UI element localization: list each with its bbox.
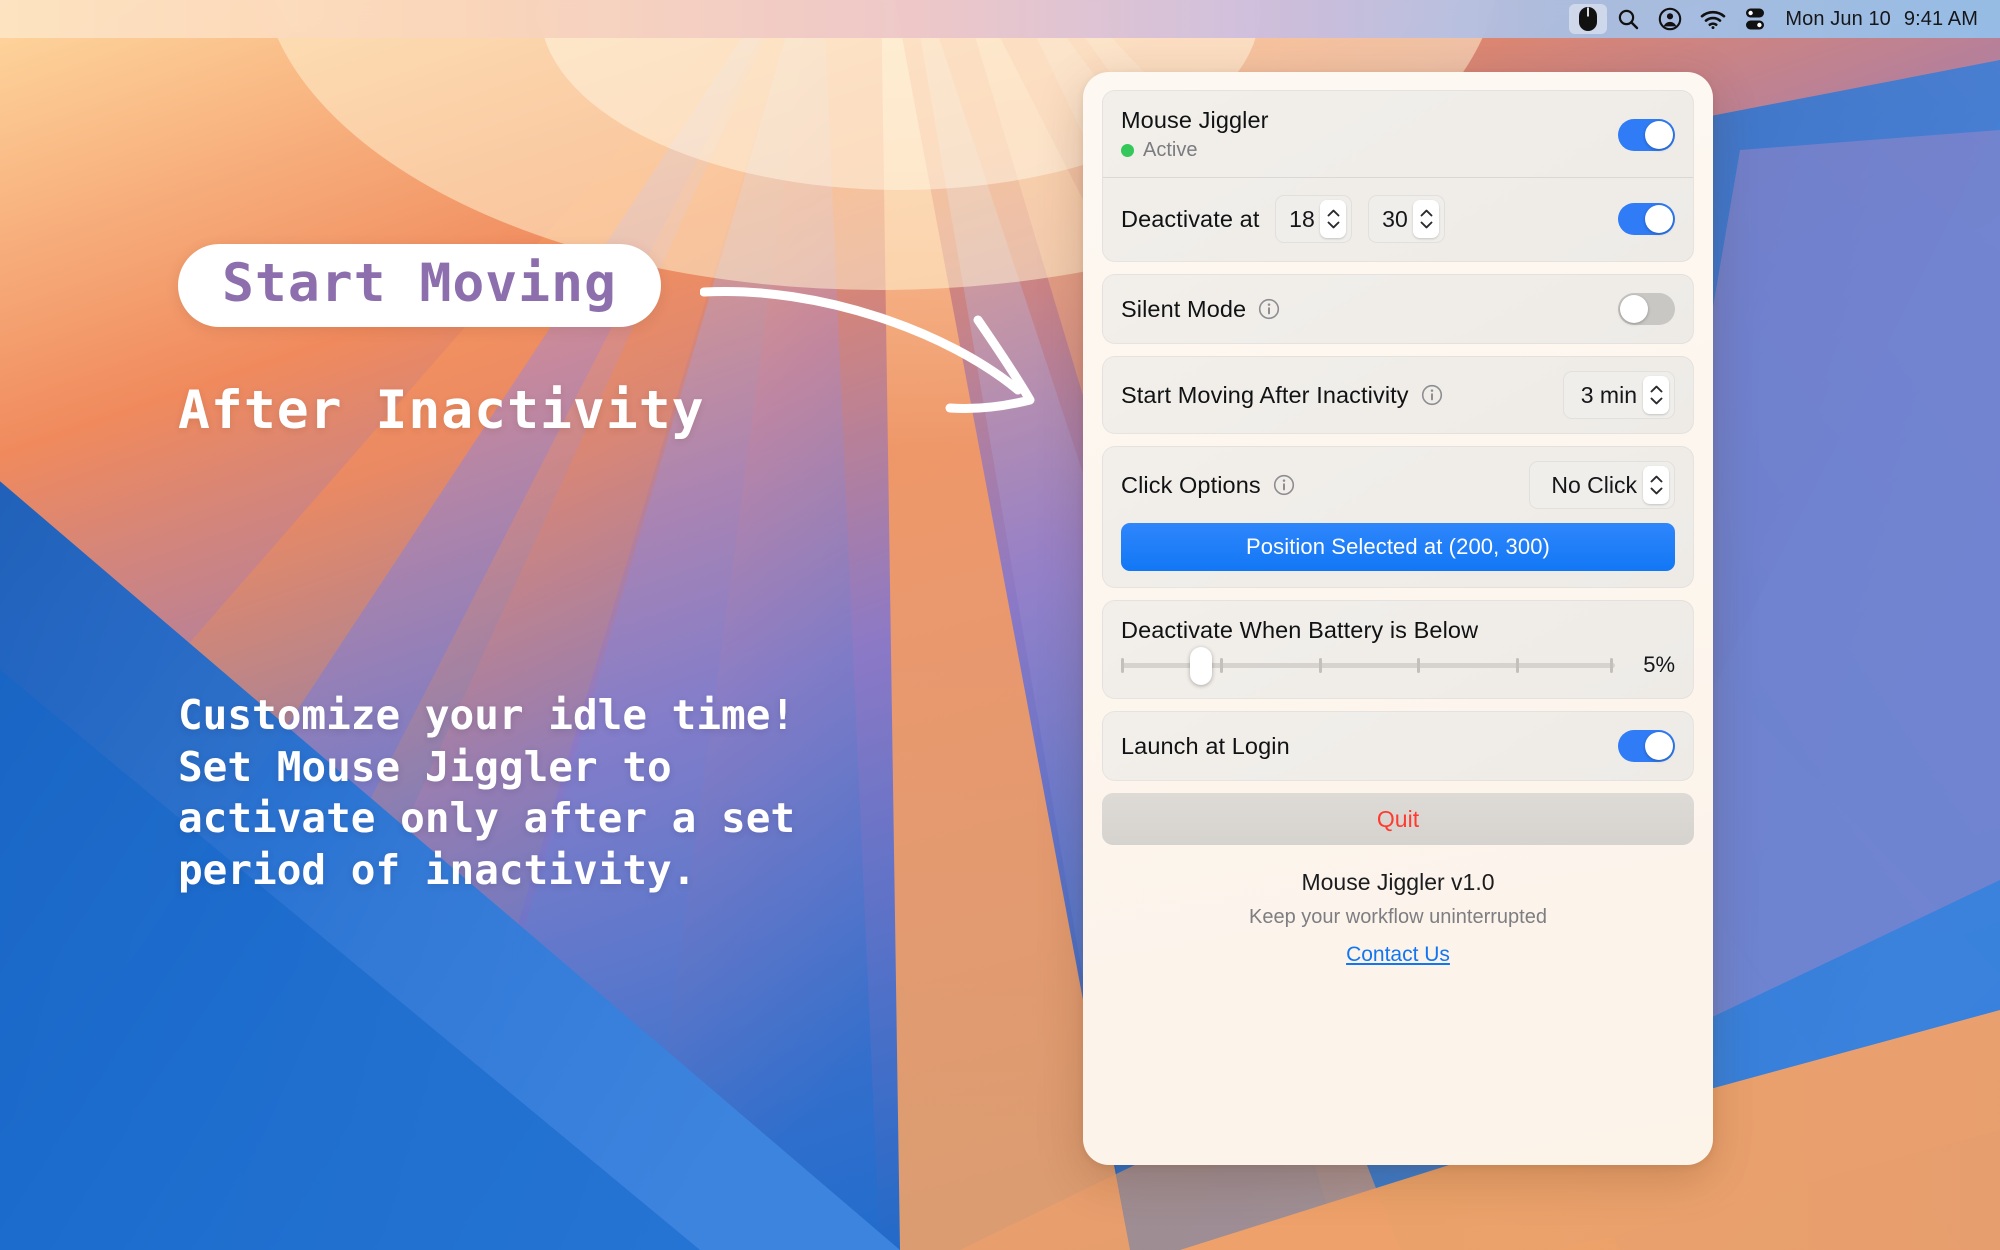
inactivity-label: Start Moving After Inactivity	[1121, 382, 1409, 409]
inactivity-stepper-arrows[interactable]	[1643, 376, 1669, 414]
battery-slider-track[interactable]	[1121, 652, 1615, 678]
click-options-label: Click Options	[1121, 472, 1261, 499]
slider-tick	[1610, 658, 1613, 673]
quit-button[interactable]: Quit	[1102, 793, 1694, 845]
inactivity-label-group: Start Moving After Inactivity	[1121, 382, 1443, 409]
control-center-icon[interactable]	[1735, 4, 1775, 34]
click-options-stepper-arrows[interactable]	[1643, 466, 1669, 504]
click-options-stepper[interactable]: No Click	[1529, 461, 1675, 509]
silent-mode-label-group: Silent Mode	[1121, 296, 1280, 323]
wifi-icon[interactable]	[1691, 4, 1735, 34]
silent-mode-row: Silent Mode	[1121, 275, 1675, 343]
deactivate-at-label: Deactivate at	[1121, 206, 1259, 233]
status-label: Active	[1143, 139, 1197, 162]
status-dot-icon	[1121, 144, 1134, 157]
search-icon	[1616, 7, 1640, 31]
slider-tick	[1220, 658, 1223, 673]
status-card: Mouse Jiggler Active Deactivate at 18	[1102, 90, 1694, 262]
promo-body-copy: Customize your idle time! Set Mouse Jigg…	[178, 690, 795, 897]
mouse-icon	[1578, 6, 1598, 32]
click-options-value: No Click	[1541, 472, 1639, 499]
click-options-row: Click Options No Click	[1121, 447, 1675, 509]
status-text-group: Mouse Jiggler Active	[1121, 107, 1269, 162]
info-icon[interactable]	[1273, 474, 1295, 496]
app-tagline: Keep your workflow uninterrupted	[1102, 906, 1694, 929]
inactivity-card: Start Moving After Inactivity 3 min	[1102, 356, 1694, 434]
control-center-icon	[1744, 7, 1766, 31]
wifi-icon	[1700, 9, 1726, 29]
launch-at-login-row: Launch at Login	[1121, 712, 1675, 780]
app-title: Mouse Jiggler	[1121, 107, 1269, 134]
inactivity-value: 3 min	[1575, 382, 1639, 409]
promo-pill-text: Start Moving	[222, 253, 617, 314]
chevron-down-icon	[1650, 487, 1663, 495]
inactivity-row: Start Moving After Inactivity 3 min	[1121, 357, 1675, 433]
battery-slider-thumb[interactable]	[1190, 647, 1212, 685]
toggle-knob	[1645, 205, 1673, 233]
info-icon[interactable]	[1258, 298, 1280, 320]
chevron-up-icon	[1650, 475, 1663, 483]
menu-bar-clock[interactable]: Mon Jun 10 9:41 AM	[1785, 8, 1978, 31]
slider-tick	[1319, 658, 1322, 673]
account-icon	[1658, 7, 1682, 31]
hour-value: 18	[1287, 206, 1316, 233]
chevron-down-icon	[1650, 397, 1663, 405]
silent-mode-toggle[interactable]	[1618, 293, 1675, 325]
silent-mode-label: Silent Mode	[1121, 296, 1246, 323]
macos-menu-bar: Mon Jun 10 9:41 AM	[0, 0, 2000, 38]
contact-us-link[interactable]: Contact Us	[1346, 943, 1450, 967]
battery-slider-row: 5%	[1121, 644, 1675, 698]
click-options-label-group: Click Options	[1121, 472, 1295, 499]
toggle-knob	[1645, 121, 1673, 149]
panel-footer: Mouse Jiggler v1.0 Keep your workflow un…	[1102, 861, 1694, 967]
slider-tick	[1417, 658, 1420, 673]
mouse-jiggler-menu-icon[interactable]	[1569, 4, 1607, 34]
hour-stepper-arrows[interactable]	[1320, 200, 1346, 238]
status-row: Mouse Jiggler Active	[1121, 91, 1675, 177]
position-button-wrap: Position Selected at (200, 300)	[1121, 509, 1675, 587]
app-version: Mouse Jiggler v1.0	[1102, 869, 1694, 896]
promo-pill: Start Moving	[178, 244, 661, 327]
launch-at-login-label: Launch at Login	[1121, 733, 1290, 760]
info-icon[interactable]	[1421, 384, 1443, 406]
slider-tick	[1121, 658, 1124, 673]
battery-card: Deactivate When Battery is Below 5%	[1102, 600, 1694, 699]
slider-tick	[1516, 658, 1519, 673]
promo-overlay: Start Moving After Inactivity Customize …	[0, 0, 1050, 1250]
spotlight-search-icon[interactable]	[1607, 4, 1649, 34]
chevron-down-icon	[1420, 221, 1433, 229]
toggle-knob	[1620, 295, 1648, 323]
curved-arrow-icon	[700, 260, 1100, 460]
minute-stepper[interactable]: 30	[1368, 195, 1445, 243]
mouse-jiggler-panel: Mouse Jiggler Active Deactivate at 18	[1083, 72, 1713, 1165]
deactivate-at-toggle[interactable]	[1618, 203, 1675, 235]
menu-bar-time: 9:41 AM	[1904, 8, 1978, 31]
user-account-icon[interactable]	[1649, 4, 1691, 34]
promo-headline-2: After Inactivity	[178, 380, 705, 441]
chevron-up-icon	[1420, 209, 1433, 217]
master-toggle[interactable]	[1618, 119, 1675, 151]
launch-at-login-toggle[interactable]	[1618, 730, 1675, 762]
launch-at-login-card: Launch at Login	[1102, 711, 1694, 781]
chevron-up-icon	[1650, 385, 1663, 393]
toggle-knob	[1645, 732, 1673, 760]
click-options-card: Click Options No Click Position Selected…	[1102, 446, 1694, 588]
menu-bar-date: Mon Jun 10	[1785, 8, 1891, 31]
status-badge: Active	[1121, 139, 1269, 162]
hour-stepper[interactable]: 18	[1275, 195, 1352, 243]
chevron-up-icon	[1327, 209, 1340, 217]
position-selected-button[interactable]: Position Selected at (200, 300)	[1121, 523, 1675, 571]
minute-value: 30	[1380, 206, 1409, 233]
battery-label-wrap: Deactivate When Battery is Below	[1121, 601, 1675, 644]
deactivate-at-group: Deactivate at 18 30	[1121, 195, 1445, 243]
chevron-down-icon	[1327, 221, 1340, 229]
deactivate-at-row: Deactivate at 18 30	[1121, 178, 1675, 261]
battery-label: Deactivate When Battery is Below	[1121, 617, 1478, 643]
silent-mode-card: Silent Mode	[1102, 274, 1694, 344]
battery-value-label: 5%	[1631, 652, 1675, 678]
inactivity-stepper[interactable]: 3 min	[1563, 371, 1675, 419]
minute-stepper-arrows[interactable]	[1413, 200, 1439, 238]
